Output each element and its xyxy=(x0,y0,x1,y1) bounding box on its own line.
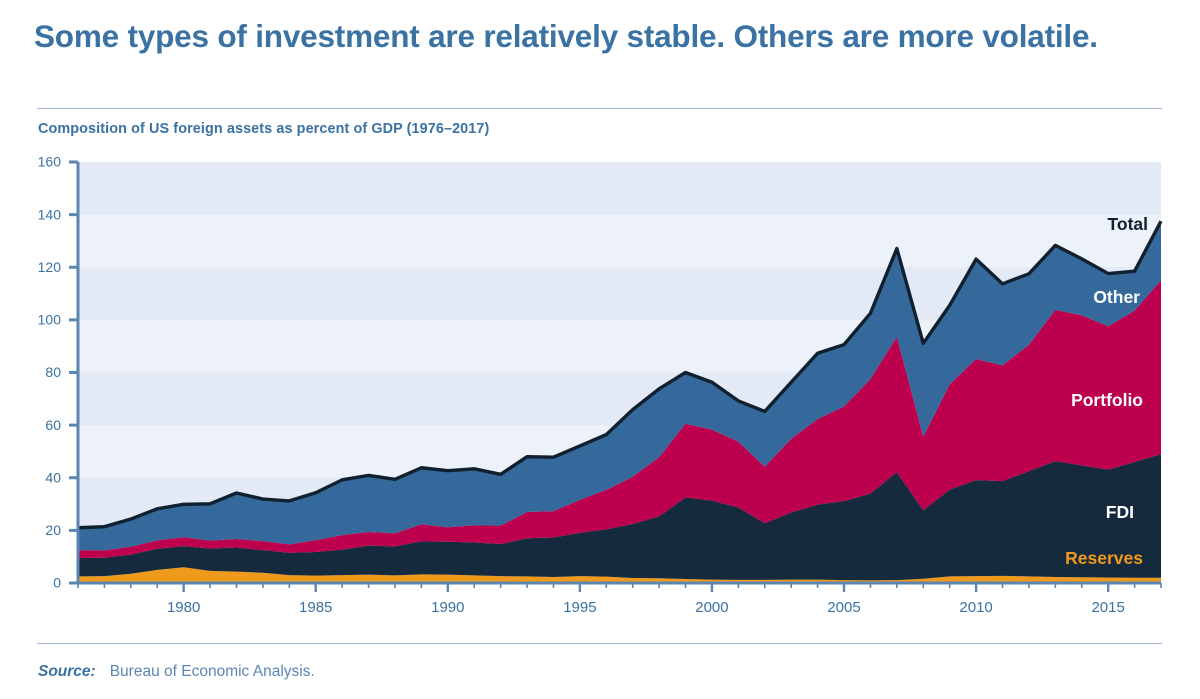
series-label-portfolio: Portfolio xyxy=(1071,390,1143,410)
y-tick-label: 160 xyxy=(38,154,62,170)
y-axis-tick-labels: 020406080100120140160 xyxy=(38,154,62,591)
y-tick-label: 20 xyxy=(45,522,61,538)
x-tick-label: 1995 xyxy=(563,599,596,616)
x-tick-label: 2015 xyxy=(1091,599,1124,616)
series-label-fdi: FDI xyxy=(1106,502,1134,522)
x-tick-label: 1990 xyxy=(431,599,464,616)
x-tick-label: 2010 xyxy=(959,599,992,616)
x-tick-label: 2000 xyxy=(695,599,728,616)
stacked-area-chart: 020406080100120140160 198019851990199520… xyxy=(0,0,1200,699)
y-tick-label: 80 xyxy=(45,364,61,380)
series-label-reserves: Reserves xyxy=(1065,548,1143,568)
y-tick-label: 0 xyxy=(53,575,61,591)
source-note: Source: Bureau of Economic Analysis. xyxy=(38,663,315,681)
x-axis-tick-labels: 19801985199019952000200520102015 xyxy=(167,599,1125,616)
source-label: Source: xyxy=(38,663,96,681)
chart-figure: Some types of investment are relatively … xyxy=(0,0,1200,699)
y-tick-label: 40 xyxy=(45,469,61,485)
y-tick-label: 120 xyxy=(38,259,62,275)
y-tick-label: 60 xyxy=(45,417,61,433)
series-label-total: Total xyxy=(1107,214,1148,234)
x-tick-label: 1980 xyxy=(167,599,200,616)
x-tick-label: 1985 xyxy=(299,599,332,616)
y-tick-label: 140 xyxy=(38,206,62,222)
x-tick-label: 2005 xyxy=(827,599,860,616)
y-tick-label: 100 xyxy=(38,312,62,328)
series-label-other: Other xyxy=(1093,287,1140,307)
source-text: Bureau of Economic Analysis. xyxy=(110,663,315,681)
footer-divider xyxy=(37,643,1162,644)
plot-area: 020406080100120140160 198019851990199520… xyxy=(0,0,1200,699)
